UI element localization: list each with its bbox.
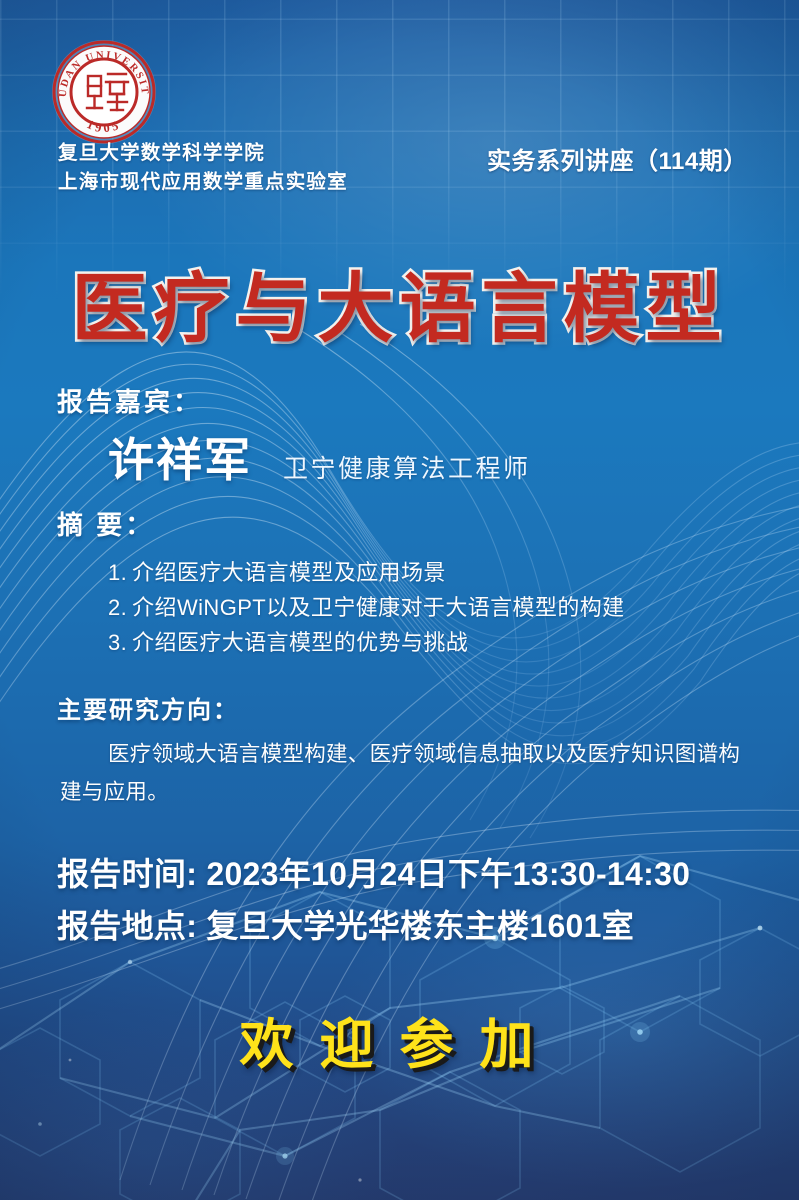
list-item-text: 介绍医疗大语言模型的优势与挑战 — [132, 630, 468, 655]
list-item: 2.介绍WiNGPT以及卫宁健康对于大语言模型的构建 — [108, 590, 625, 625]
speaker-label: 报告嘉宾： — [57, 382, 202, 419]
speaker-affiliation: 卫宁健康算法工程师 — [283, 449, 531, 485]
lecture-location: 报告地点: 复旦大学光华楼东主楼1601室 — [57, 901, 634, 947]
abstract-list: 1.介绍医疗大语言模型及应用场景 2.介绍WiNGPT以及卫宁健康对于大语言模型… — [108, 555, 625, 660]
list-item-number: 2. — [108, 595, 127, 620]
welcome-banner: 欢迎参加 — [0, 1000, 799, 1079]
org-line-1: 复旦大学数学科学学院 — [58, 142, 265, 164]
list-item-number: 1. — [108, 560, 127, 585]
speaker-name: 许祥军 — [108, 424, 252, 490]
list-item-number: 3. — [108, 630, 127, 655]
list-item: 1.介绍医疗大语言模型及应用场景 — [108, 555, 625, 590]
lecture-series-badge: 实务系列讲座（114期） — [487, 141, 748, 176]
org-line-2: 上海市现代应用数学重点实验室 — [58, 171, 348, 193]
list-item-text: 介绍WiNGPT以及卫宁健康对于大语言模型的构建 — [132, 595, 624, 620]
list-item-text: 介绍医疗大语言模型及应用场景 — [132, 560, 446, 585]
abstract-label: 摘 要： — [57, 505, 154, 542]
lecture-time: 报告时间: 2023年10月24日下午13:30-14:30 — [57, 849, 690, 895]
list-item: 3.介绍医疗大语言模型的优势与挑战 — [108, 625, 625, 660]
fudan-university-logo: FUDAN UNIVERSITY 1905 — [48, 36, 160, 148]
research-directions-label: 主要研究方向： — [57, 690, 239, 725]
page-title: 医疗与大语言模型 — [0, 247, 799, 357]
seminar-poster: FUDAN UNIVERSITY 1905 复旦大学数学科学学院上海市现代应 — [0, 0, 799, 1200]
organization-lines: 复旦大学数学科学学院上海市现代应用数学重点实验室 — [58, 139, 348, 197]
research-directions-body: 医疗领域大语言模型构建、医疗领域信息抽取以及医疗知识图谱构建与应用。 — [60, 735, 760, 811]
